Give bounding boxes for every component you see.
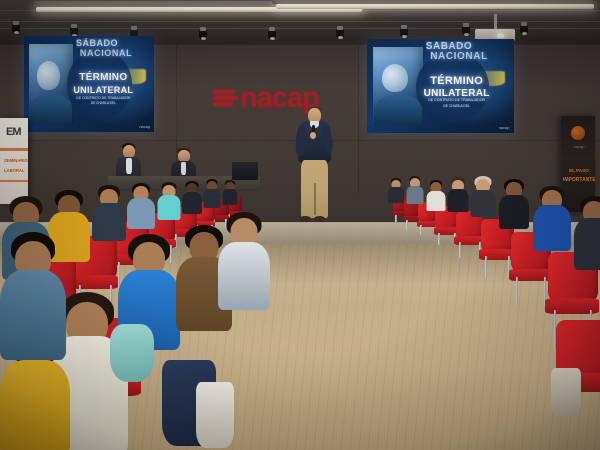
- teal-scarf: [110, 324, 154, 382]
- audience-member: [203, 179, 220, 205]
- audience-torso: [222, 189, 237, 205]
- audience-member: [92, 185, 126, 237]
- audience-member: [574, 196, 600, 266]
- audience-member: [533, 186, 571, 246]
- slide-subtitle: DE CONTRATO DE TRABAJADOR: [417, 98, 496, 102]
- nacap-wall-logo: nacap: [213, 84, 319, 113]
- audience-member: [426, 180, 445, 208]
- bag-on-floor: [551, 368, 581, 416]
- banner-left-logo: EM: [6, 126, 21, 138]
- slide-footer-logo: nacap: [499, 125, 510, 130]
- red-auditorium-chair: [456, 211, 484, 254]
- track-spotlight: [400, 28, 408, 37]
- audience-member: [127, 183, 155, 225]
- audience-torso: [533, 205, 571, 251]
- track-spotlight: [12, 24, 20, 33]
- audience-torso: [127, 198, 155, 229]
- slide-right: SÁBADO NACIONAL TÉRMINO UNILATERAL DE CO…: [367, 39, 514, 133]
- audience-member: [182, 181, 202, 211]
- slide-subtitle-2: DE CHARLA DEL: [68, 101, 138, 105]
- audience-member: [470, 176, 495, 214]
- slide-subtitle-2: DE CHARLA DEL: [417, 104, 496, 108]
- nacap-logo-text: nacap: [240, 84, 319, 113]
- audience-torso: [0, 360, 70, 450]
- slide-header-line2: NACIONAL: [430, 51, 512, 62]
- audience-member: [222, 180, 237, 203]
- panel-monitor: [232, 162, 258, 180]
- audience-torso: [203, 189, 220, 208]
- projection-screen-left: SÁBADO NACIONAL TÉRMINO UNILATERAL DE CO…: [24, 36, 154, 132]
- projector-mount: [494, 14, 497, 30]
- audience-member: [388, 178, 404, 202]
- audience-member: [499, 179, 529, 226]
- audience-torso: [0, 270, 66, 360]
- presenter-hand: [310, 132, 316, 139]
- track-spotlight: [462, 26, 470, 35]
- banner-left: EM SEMINARIO LABORAL: [0, 118, 28, 204]
- audience-member-foreground: [0, 232, 66, 352]
- track-spotlight: [199, 30, 207, 39]
- audience-torso: [157, 195, 180, 220]
- slide-title-line1: TÉRMINO: [420, 75, 494, 87]
- banner-right-line2: IMPORTANTE: [563, 177, 595, 184]
- slide-header-line1: SÁBADO: [426, 41, 511, 52]
- banner-right-sub: nacap: [563, 144, 595, 149]
- slide-subtitle: DE CONTRATO DE TRABAJADOR: [68, 96, 138, 100]
- banner-left-line2: LABORAL: [4, 168, 28, 173]
- audience-torso: [388, 187, 404, 203]
- auditorium-photo: SÁBADO NACIONAL TÉRMINO UNILATERAL DE CO…: [0, 0, 600, 450]
- track-spotlight: [336, 29, 344, 38]
- banner-right-mark-icon: [571, 126, 585, 140]
- slide-title-line1: TÉRMINO: [71, 72, 136, 83]
- banner-left-line1: SEMINARIO: [4, 158, 28, 163]
- audience-member: [447, 177, 468, 209]
- audience-torso: [470, 190, 495, 217]
- banner-right-line1: EL PASO: [563, 168, 595, 174]
- audience-torso: [426, 191, 445, 211]
- track-spotlight: [268, 30, 276, 39]
- audience-torso: [447, 189, 468, 212]
- projector-lens: [497, 33, 504, 38]
- audience-torso: [406, 186, 423, 204]
- nacap-swoosh-icon: [213, 87, 239, 111]
- track-spotlight: [520, 25, 528, 34]
- audience-torso: [574, 218, 600, 270]
- audience-torso: [182, 192, 202, 214]
- audience-torso: [218, 242, 270, 310]
- audience-member: [406, 176, 423, 202]
- audience-torso: [499, 195, 529, 229]
- presenter-shoe-right: [314, 216, 325, 222]
- slide-title-line2: UNILATERAL: [71, 85, 136, 95]
- audience-member: [157, 182, 180, 216]
- presenter-shoe-left: [300, 216, 311, 222]
- audience-member-foreground: [218, 212, 270, 304]
- track-spotlight: [70, 27, 78, 36]
- strip-light-right: [276, 4, 594, 9]
- slide-header-line1: SÁBADO: [76, 38, 151, 48]
- slide-header-line2: NACIONAL: [80, 48, 153, 58]
- shopping-bag-on-floor: [196, 382, 234, 448]
- slide-footer-logo: nacap: [139, 124, 150, 129]
- slide-title-line2: UNILATERAL: [420, 88, 494, 99]
- projection-screen-right: SÁBADO NACIONAL TÉRMINO UNILATERAL DE CO…: [367, 39, 514, 133]
- slide-left: SÁBADO NACIONAL TÉRMINO UNILATERAL DE CO…: [24, 36, 154, 132]
